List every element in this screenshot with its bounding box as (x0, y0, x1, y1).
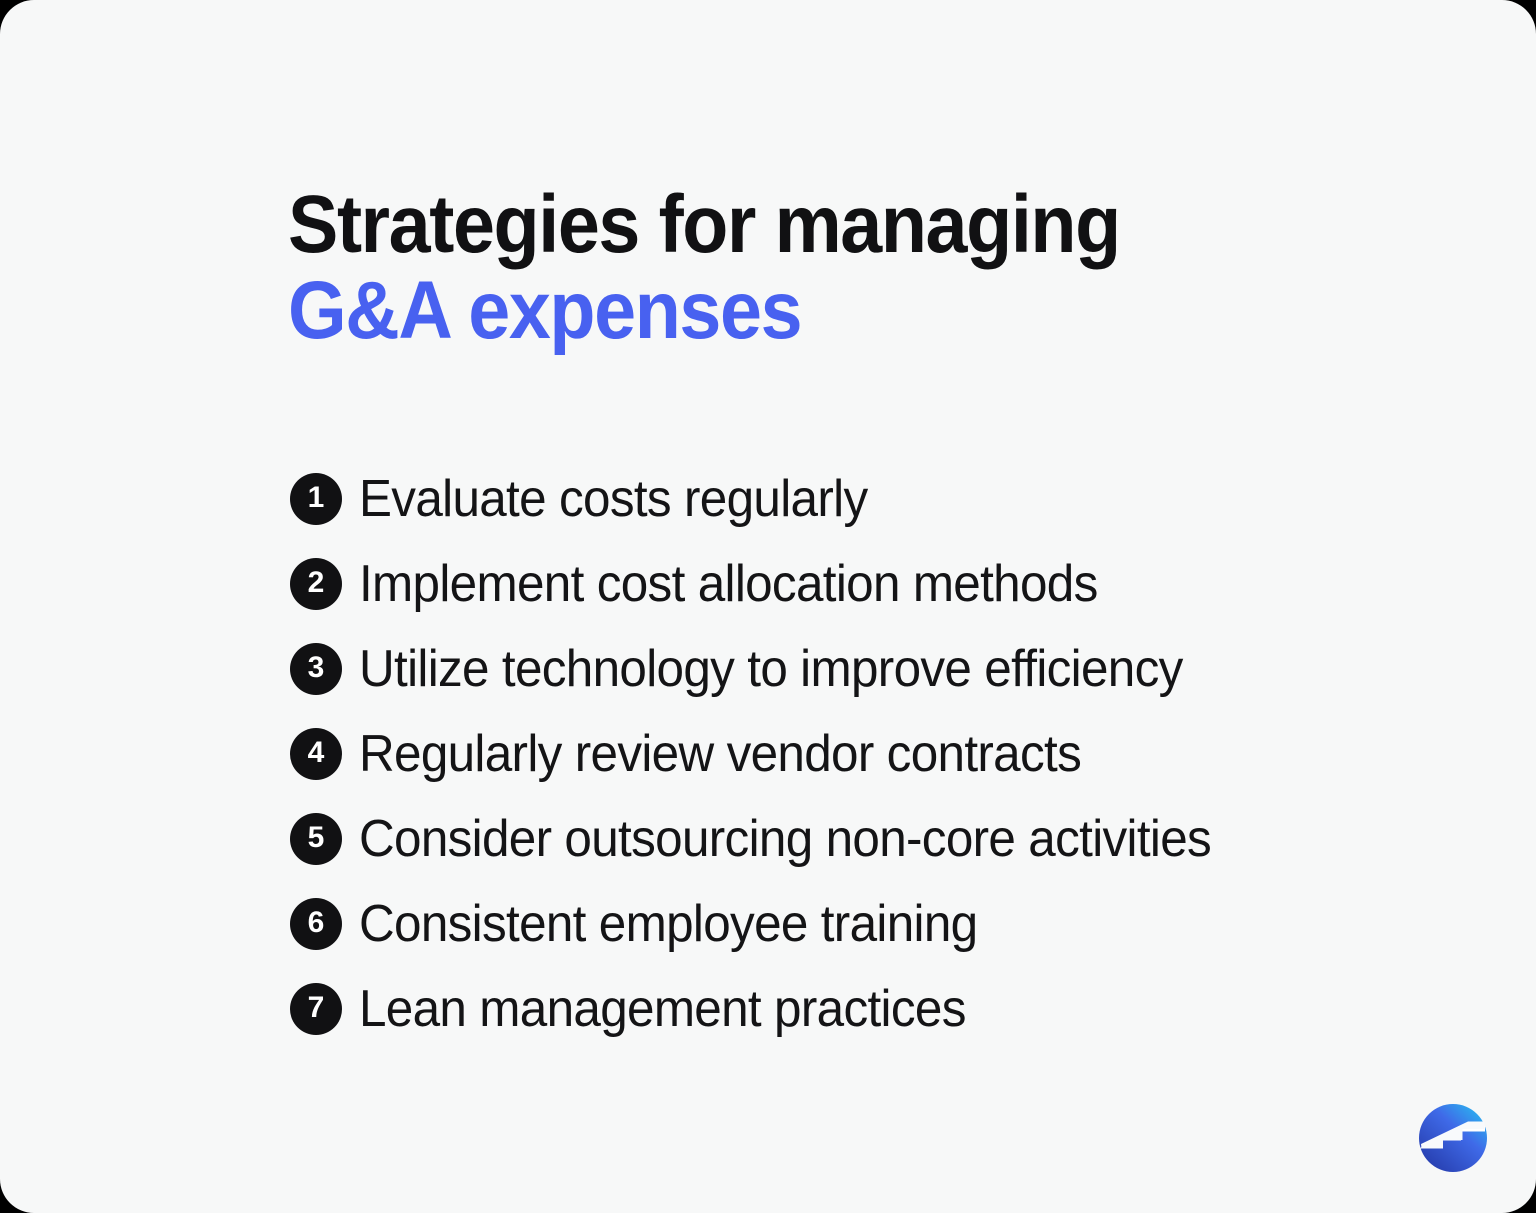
list-item-label: Evaluate costs regularly (359, 471, 867, 527)
number-badge-icon: 6 (290, 898, 342, 950)
page-title: Strategies for managing G&A expenses (288, 182, 1254, 354)
list-item-label: Consistent employee training (359, 896, 977, 952)
number-badge-icon: 5 (290, 813, 342, 865)
number-badge-icon: 7 (290, 983, 342, 1035)
list-item: 7 Lean management practices (290, 966, 1410, 1051)
list-item-label: Implement cost allocation methods (359, 556, 1098, 612)
lightning-bolt-circle-icon (1418, 1103, 1488, 1173)
list-item-label: Lean management practices (359, 981, 966, 1037)
number-badge-icon: 4 (290, 728, 342, 780)
number-badge-icon: 1 (290, 473, 342, 525)
list-item: 5 Consider outsourcing non-core activiti… (290, 796, 1410, 881)
brand-logo (1418, 1103, 1488, 1173)
list-item: 2 Implement cost allocation methods (290, 541, 1410, 626)
list-item: 6 Consistent employee training (290, 881, 1410, 966)
page-title-line-1: Strategies for managing (288, 182, 1254, 268)
list-item-label: Consider outsourcing non-core activities (359, 811, 1211, 867)
page-title-line-2: G&A expenses (288, 268, 1254, 354)
list-item-label: Utilize technology to improve efficiency (359, 641, 1183, 697)
list-item: 3 Utilize technology to improve efficien… (290, 626, 1410, 711)
list-item: 1 Evaluate costs regularly (290, 456, 1410, 541)
number-badge-icon: 3 (290, 643, 342, 695)
strategy-list: 1 Evaluate costs regularly 2 Implement c… (290, 456, 1410, 1051)
content-card: Strategies for managing G&A expenses 1 E… (0, 0, 1536, 1213)
number-badge-icon: 2 (290, 558, 342, 610)
list-item-label: Regularly review vendor contracts (359, 726, 1081, 782)
list-item: 4 Regularly review vendor contracts (290, 711, 1410, 796)
